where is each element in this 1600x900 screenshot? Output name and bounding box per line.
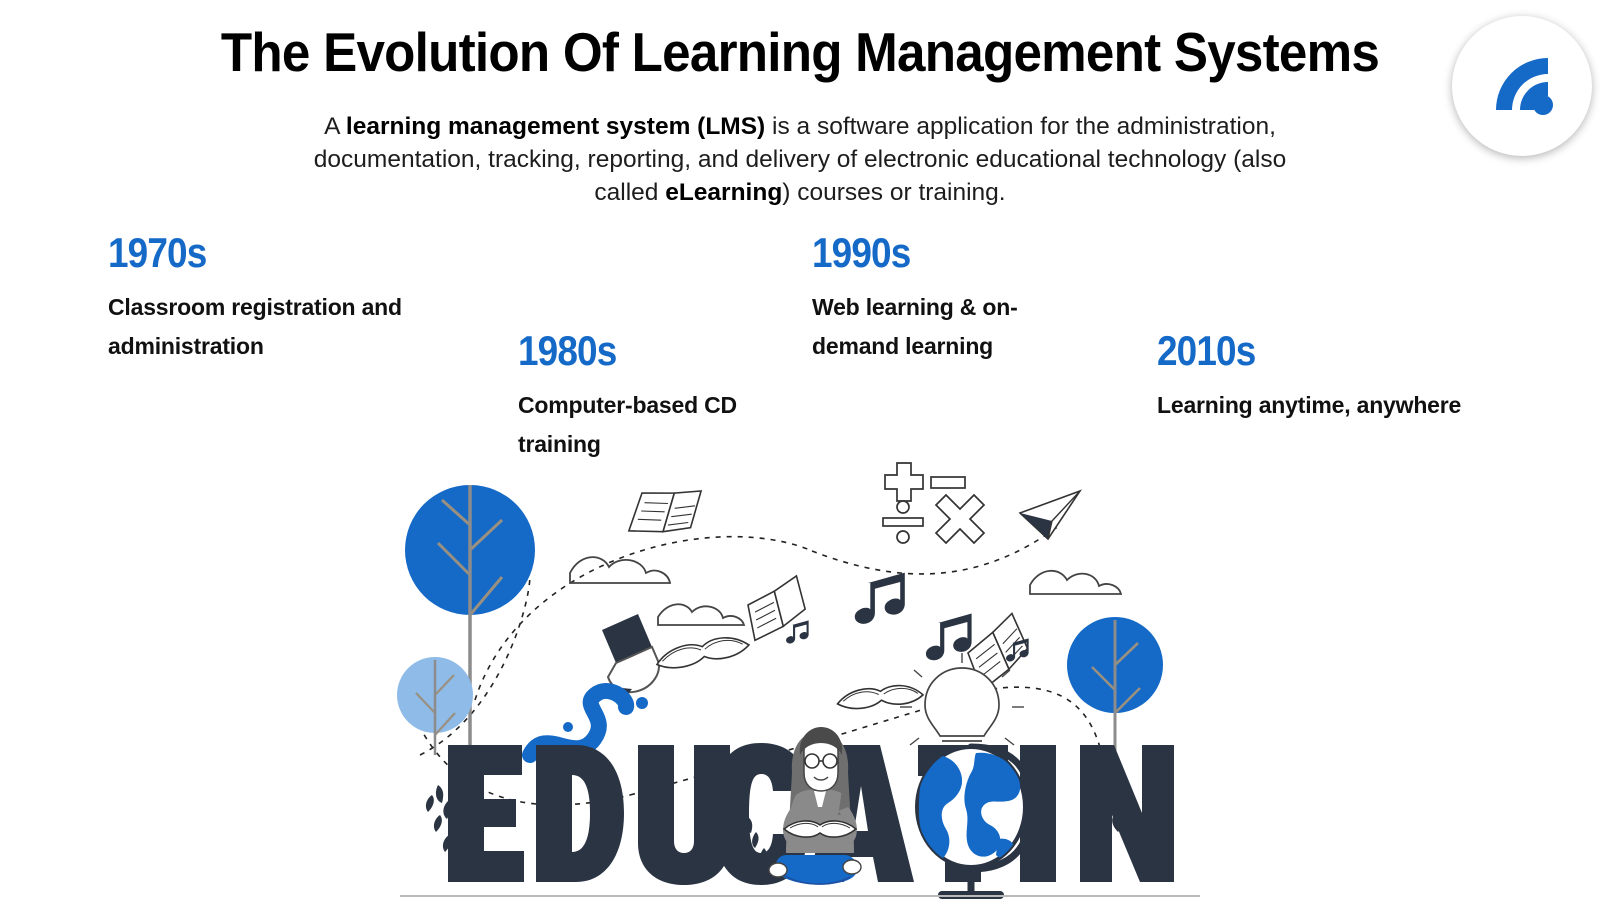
timeline-item-1980s: 1980s Computer-based CD training [518,330,798,464]
subtitle-part-1-bold: learning management system (LMS) [346,113,765,140]
open-book-icon [654,633,923,711]
plus-icon [885,463,923,501]
globe-icon [917,747,1031,895]
timeline-decade-label: 1980s [518,330,764,372]
timeline-item-1990s: 1990s Web learning & on-demand learning [812,232,1102,366]
tree-right-blue [1067,617,1163,755]
infographic-page: The Evolution Of Learning Management Sys… [0,0,1600,900]
timeline-description: Learning anytime, anywhere [1157,386,1577,425]
multiply-icon [936,495,984,543]
page-title: The Evolution Of Learning Management Sys… [56,20,1544,84]
minus-icon [931,477,965,488]
paper-airplane-icon [1020,491,1080,539]
page-subtitle: A learning management system (LMS) is a … [300,110,1300,209]
wifi-signal-icon [1482,44,1562,129]
timeline-decade-label: 1970s [108,232,398,274]
subtitle-part-0: A [324,113,346,140]
math-symbols [883,463,984,543]
timeline-item-2010s: 2010s Learning anytime, anywhere [1157,330,1577,425]
subtitle-part-3-bold: eLearning [665,179,782,206]
subtitle-part-4: ) courses or training. [782,179,1005,206]
timeline-description: Classroom registration and administratio… [108,288,438,366]
education-illustration [380,455,1220,900]
timeline-description: Computer-based CD training [518,386,798,464]
timeline-description: Web learning & on-demand learning [812,288,1102,366]
divide-icon [883,501,923,543]
brand-logo[interactable] [1452,16,1592,156]
timeline-decade-label: 1990s [812,232,1067,274]
tree-small-lightblue [397,657,473,755]
cloud-icon [570,557,1121,625]
timeline-item-1970s: 1970s Classroom registration and adminis… [108,232,438,366]
timeline-decade-label: 2010s [1157,330,1527,372]
